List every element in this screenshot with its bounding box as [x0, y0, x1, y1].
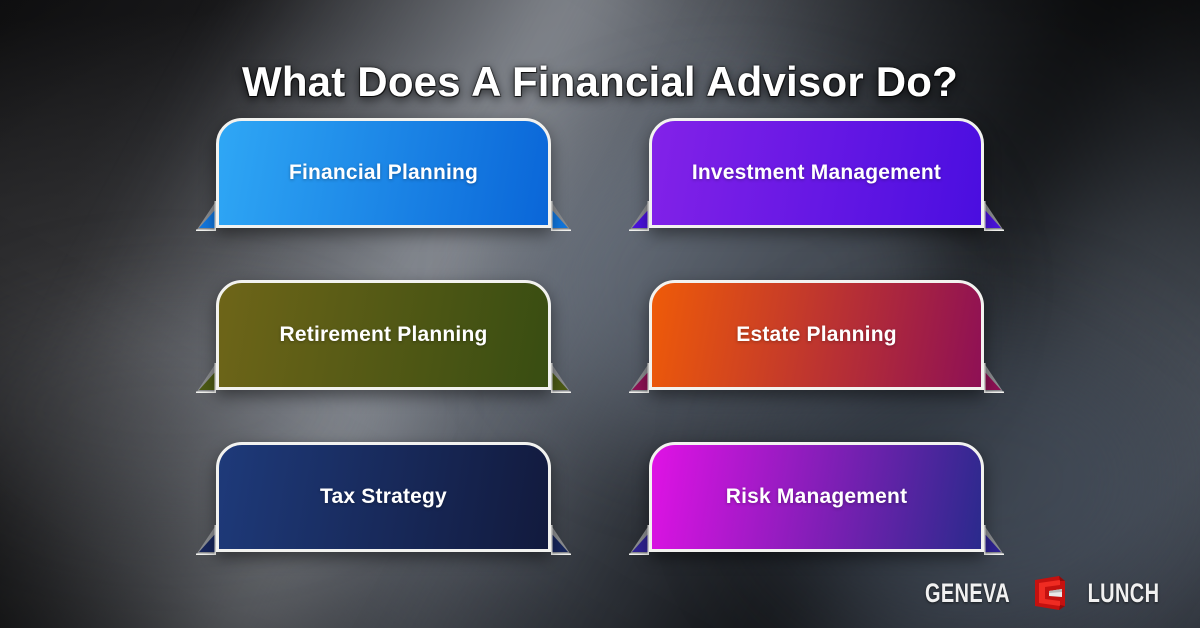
card-label: Estate Planning: [720, 321, 913, 349]
ribbon-tail-right-icon: [984, 201, 1004, 231]
card-investment-management[interactable]: Investment Management: [649, 118, 984, 228]
ribbon-tail-left-icon: [196, 525, 216, 555]
card-label: Retirement Planning: [264, 321, 504, 349]
ribbon-tail-left-icon: [196, 363, 216, 393]
card-body[interactable]: Investment Management: [649, 118, 984, 228]
card-grid: Financial Planning Investment Management…: [0, 118, 1200, 604]
card-estate-planning[interactable]: Estate Planning: [649, 280, 984, 390]
card-row: Financial Planning Investment Management: [0, 118, 1200, 228]
card-retirement-planning[interactable]: Retirement Planning: [216, 280, 551, 390]
logo-word-left: GENEVA: [925, 578, 1010, 609]
infographic-canvas: What Does A Financial Advisor Do? Financ…: [0, 0, 1200, 628]
card-label: Investment Management: [676, 159, 957, 187]
card-body[interactable]: Risk Management: [649, 442, 984, 552]
ribbon-tail-right-icon: [551, 525, 571, 555]
card-row: Retirement Planning Estate Planning: [0, 280, 1200, 390]
brand-logo[interactable]: GENEVA LUNCH: [910, 576, 1172, 610]
card-financial-planning[interactable]: Financial Planning: [216, 118, 551, 228]
ribbon-tail-left-icon: [629, 201, 649, 231]
card-risk-management[interactable]: Risk Management: [649, 442, 984, 552]
logo-word-right: LUNCH: [1088, 578, 1160, 609]
ribbon-tail-left-icon: [629, 525, 649, 555]
ribbon-tail-right-icon: [984, 363, 1004, 393]
card-label: Tax Strategy: [304, 483, 463, 511]
ribbon-tail-left-icon: [629, 363, 649, 393]
ribbon-tail-right-icon: [984, 525, 1004, 555]
card-row: Tax Strategy Risk Management: [0, 442, 1200, 552]
g-emblem-icon: [1033, 575, 1067, 611]
ribbon-tail-left-icon: [196, 201, 216, 231]
card-label: Risk Management: [710, 483, 924, 511]
ribbon-tail-right-icon: [551, 201, 571, 231]
page-title: What Does A Financial Advisor Do?: [0, 58, 1200, 106]
card-body[interactable]: Retirement Planning: [216, 280, 551, 390]
card-body[interactable]: Financial Planning: [216, 118, 551, 228]
ribbon-tail-right-icon: [551, 363, 571, 393]
card-body[interactable]: Tax Strategy: [216, 442, 551, 552]
card-label: Financial Planning: [273, 159, 494, 187]
card-tax-strategy[interactable]: Tax Strategy: [216, 442, 551, 552]
card-body[interactable]: Estate Planning: [649, 280, 984, 390]
